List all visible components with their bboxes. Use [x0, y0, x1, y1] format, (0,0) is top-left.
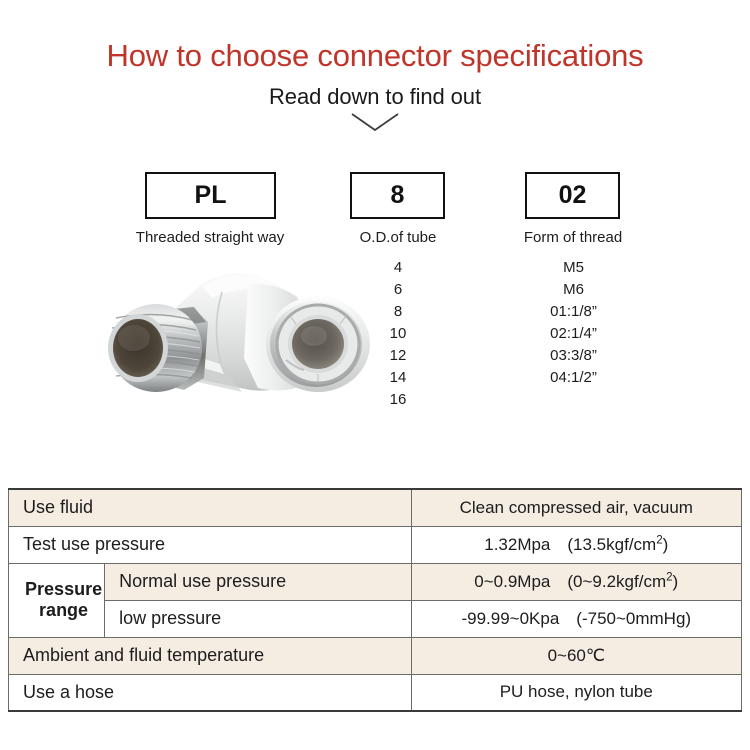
product-spec-page: How to choose connector specifications R…	[0, 0, 750, 750]
thread-form-option: 01:1/8”	[506, 301, 641, 323]
code-value: 02	[559, 181, 587, 210]
thread-form-option: 03:3/8”	[506, 345, 641, 367]
code-box-series: PL	[145, 172, 276, 219]
spec-value: Clean compressed air, vacuum	[411, 489, 741, 526]
specification-table: Use fluid Clean compressed air, vacuum T…	[8, 488, 742, 712]
table-row: Use a hose PU hose, nylon tube	[9, 674, 742, 711]
spec-label: Test use pressure	[9, 526, 412, 563]
thread-form-option: 04:1/2”	[506, 367, 641, 389]
code-label-thread-form: Form of thread	[513, 229, 633, 246]
thread-form-option: M6	[506, 279, 641, 301]
spec-label: Use a hose	[9, 674, 412, 711]
chevron-down-icon	[340, 110, 410, 136]
code-box-thread-form: 02	[525, 172, 620, 219]
code-value: PL	[195, 181, 227, 210]
code-value: 8	[391, 181, 405, 210]
table-row: low pressure -99.99~0Kpa (-750~0mmHg)	[9, 600, 742, 637]
spec-label: Ambient and fluid temperature	[9, 637, 412, 674]
thread-form-option: 02:1/4”	[506, 323, 641, 345]
spec-value: 1.32Mpa (13.5kgf/cm2)	[411, 526, 741, 563]
code-label-tube-size: O.D.of tube	[343, 229, 453, 246]
code-box-tube-size: 8	[350, 172, 445, 219]
spec-label: Normal use pressure	[105, 563, 411, 600]
thread-form-option: M5	[506, 257, 641, 279]
table-row: Pressure range Normal use pressure 0~0.9…	[9, 563, 742, 600]
spec-group-label: Pressure range	[9, 563, 105, 637]
page-title: How to choose connector specifications	[0, 38, 750, 74]
spec-value: PU hose, nylon tube	[411, 674, 741, 711]
page-subtitle: Read down to find out	[0, 84, 750, 110]
table-row: Ambient and fluid temperature 0~60℃	[9, 637, 742, 674]
table-row: Test use pressure 1.32Mpa (13.5kgf/cm2)	[9, 526, 742, 563]
spec-value: -99.99~0Kpa (-750~0mmHg)	[411, 600, 741, 637]
product-photo-elbow-fitting	[52, 262, 372, 432]
spec-label: low pressure	[105, 600, 411, 637]
table-row: Use fluid Clean compressed air, vacuum	[9, 489, 742, 526]
spec-value: 0~0.9Mpa (0~9.2kgf/cm2)	[411, 563, 741, 600]
thread-form-option-list: M5M601:1/8”02:1/4”03:3/8”04:1/2”	[506, 257, 641, 389]
spec-value: 0~60℃	[411, 637, 741, 674]
spec-label: Use fluid	[9, 489, 412, 526]
code-label-series: Threaded straight way	[115, 229, 305, 246]
